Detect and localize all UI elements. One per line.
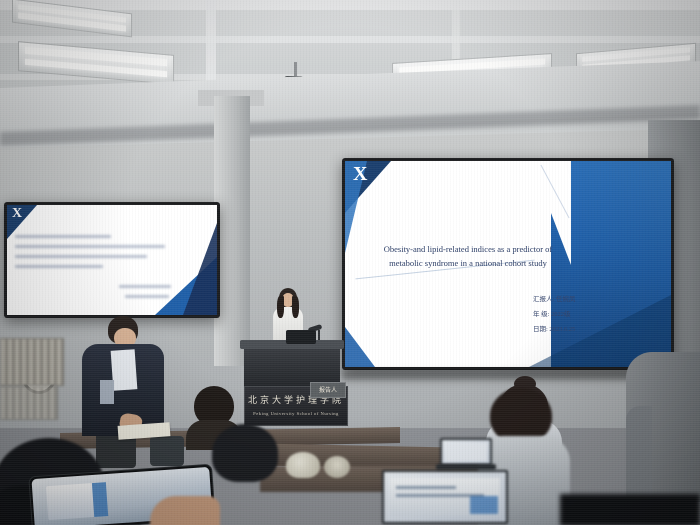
laptop-open-middle[interactable] [440,438,492,466]
podium-banner-english: Peking University School of Nursing [245,411,347,416]
attendee-arm [626,406,652,502]
laptop-screen-accent [470,496,498,514]
ceiling-beam-2 [0,36,700,43]
side-slide-text-line [15,265,103,268]
radiator [0,338,64,386]
laptop-screen-content [445,443,487,461]
lectern-laptop [286,330,316,344]
speaker-placard-label: 报告人 [310,385,346,394]
slide-accent-bottom-left [345,327,375,367]
laptop-screen-text-line [396,486,456,489]
main-projector-screen: X Obesity-and lipid-related indices as a… [342,158,674,370]
photo-scene: X X Obesity-and lipid-related indices [0,0,700,525]
side-slide-footer-line [125,295,169,298]
laptop-open-right[interactable] [382,470,508,524]
attendee-far-right-grey [626,352,700,502]
ceiling-beam-1 [0,0,700,10]
phone-screen-preview-accent [92,482,108,517]
attendee-suit-left [78,316,168,436]
attendee-shirt [111,349,138,391]
side-slide-text-line [15,255,147,258]
hand-holding-phone [150,496,220,525]
presenter-hair-side-right [292,296,299,318]
desk-plant [286,452,320,478]
side-slide-text-line [15,235,111,238]
foreground-seat-back-right [560,494,700,525]
side-projector-screen: X [4,202,220,318]
ceiling-beam-vertical-2 [452,0,460,62]
main-slide-meta-grade: 年 级: 2022级 [533,310,571,320]
chair-back-2 [150,436,184,466]
main-slide-meta-presenter: 汇报人: 任婉凤 [533,295,575,305]
presenter-hair-side [277,296,284,318]
main-slide-title-line-1: Obesity-and lipid-related indices as a p… [363,243,573,256]
slide-accent-corner-bottom-right-2 [183,223,217,315]
attendee-lanyard [100,380,114,404]
laptop-base-middle [436,464,496,470]
side-slide-footer-line [119,285,171,288]
foreground-head-center [212,424,278,482]
side-slide: X [7,205,217,315]
main-slide: X Obesity-and lipid-related indices as a… [345,161,671,367]
main-slide-logo-icon: X [353,163,367,186]
radiator-lower [0,386,58,420]
side-slide-text-line [15,245,165,248]
main-slide-meta-date: 日期: 2023.6.25 [533,325,575,335]
main-slide-title-line-2: metabolic syndrome in a national cohort … [363,257,573,270]
side-slide-logo-icon: X [12,206,22,222]
desk-plant-2 [324,456,350,478]
